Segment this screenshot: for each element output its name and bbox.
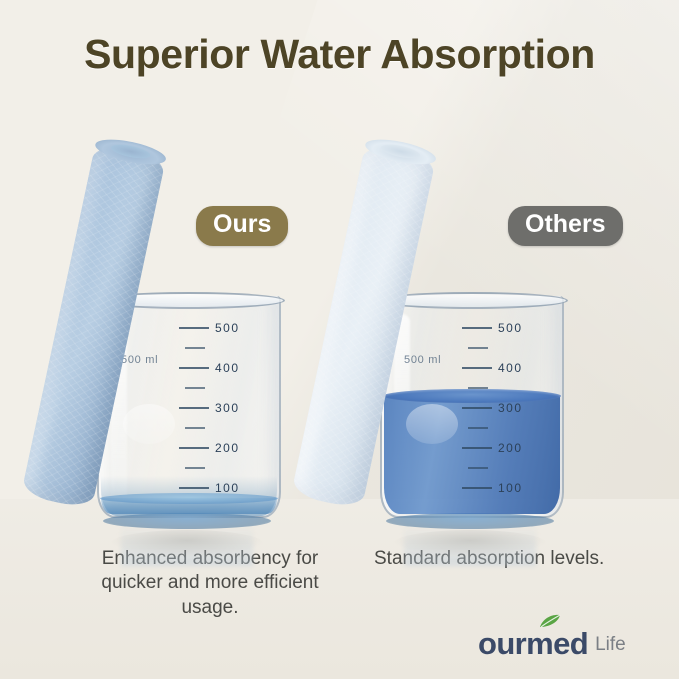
graduation-minor-350-ours <box>179 381 265 393</box>
graduation-minor-250-others <box>462 421 548 433</box>
graduation-300-ours: 300 <box>179 401 265 413</box>
brand-name: ourmed <box>478 628 588 659</box>
graduation-minor-450-others <box>462 341 548 353</box>
badge-others: Others <box>508 206 623 246</box>
badge-ours: Ours <box>196 206 288 246</box>
graduation-minor-150-ours <box>179 461 265 473</box>
beaker-volume-label-ours: 500 ml <box>121 354 158 366</box>
beaker-shadow-others <box>394 530 546 556</box>
water-volume-ours <box>101 498 277 514</box>
beaker-shadow-ours <box>111 530 263 556</box>
brand-name-text: ourmed <box>478 626 588 661</box>
graduation-500-ours: 500 <box>179 321 265 333</box>
graduation-200-others: 200 <box>462 441 548 453</box>
beaker-volume-label-others: 500 ml <box>404 354 441 366</box>
graduation-minor-450-ours <box>179 341 265 353</box>
graduation-300-others: 300 <box>462 401 548 413</box>
beaker-glass-others: 500 ml 500 400 300 <box>380 296 564 518</box>
graduation-minor-150-others <box>462 461 548 473</box>
graduation-100-ours: 100 <box>179 481 265 493</box>
graduation-minor-350-others <box>462 381 548 393</box>
graduation-100-others: 100 <box>462 481 548 493</box>
graduation-200-ours: 200 <box>179 441 265 453</box>
brand-suffix: Life <box>595 631 626 660</box>
infographic-canvas: Superior Water Absorption 500 ml 500 <box>0 0 679 679</box>
graduation-400-ours: 400 <box>179 361 265 373</box>
brand-logo: ourmed Life <box>478 628 626 659</box>
beaker-embossed-oval-ours <box>123 404 175 444</box>
beaker-embossed-oval-others <box>406 404 458 444</box>
beaker-graduation-scale-others: 500 400 300 200 <box>462 321 548 496</box>
beaker-graduation-scale-ours: 500 400 300 200 <box>179 321 265 496</box>
beaker-others: 500 ml 500 400 300 <box>380 288 560 523</box>
leaf-icon <box>539 614 561 629</box>
beaker-base-others <box>386 513 554 529</box>
beaker-base-ours <box>103 513 271 529</box>
graduation-minor-250-ours <box>179 421 265 433</box>
graduation-500-others: 500 <box>462 321 548 333</box>
page-title: Superior Water Absorption <box>0 31 679 78</box>
graduation-400-others: 400 <box>462 361 548 373</box>
